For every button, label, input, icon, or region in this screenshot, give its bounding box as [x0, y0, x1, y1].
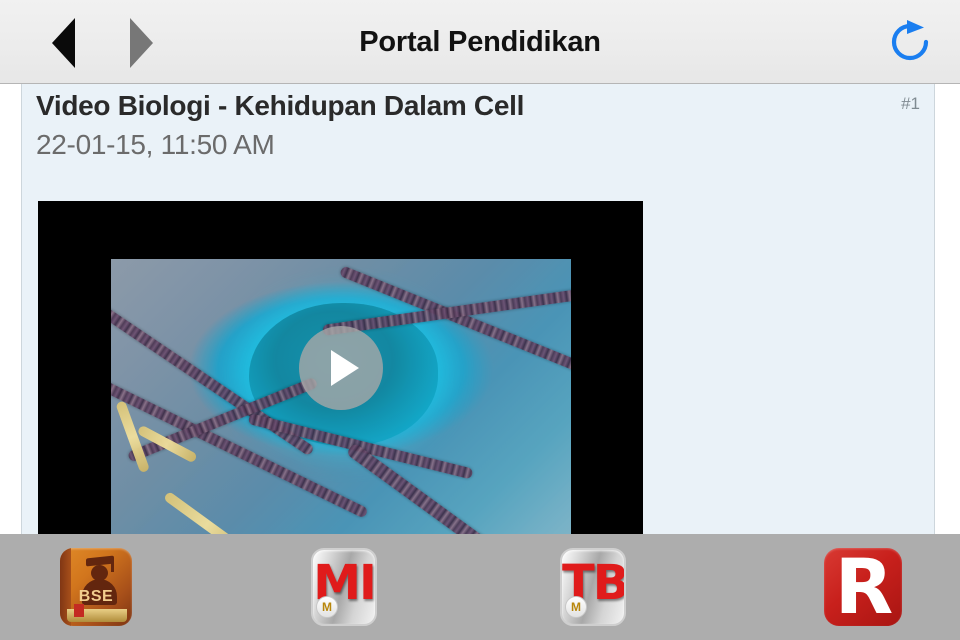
refresh-button[interactable] [886, 18, 934, 66]
navigation-bar: Portal Pendidikan [0, 0, 960, 84]
red-r-icon: R [824, 548, 902, 626]
cap-tassel-shape [111, 561, 114, 572]
post-card: Video Biologi - Kehidupan Dalam Cell #1 … [21, 84, 935, 534]
play-button[interactable] [299, 326, 383, 410]
page-content: Video Biologi - Kehidupan Dalam Cell #1 … [0, 84, 960, 534]
metal-letters-tb-icon: TB M [560, 548, 626, 626]
bookmark-shape [74, 604, 84, 617]
video-player[interactable] [38, 201, 643, 534]
app-root: Portal Pendidikan Video Biologi - Kehidu… [0, 0, 960, 640]
forward-button[interactable] [130, 18, 153, 68]
tb-badge: M [565, 596, 587, 618]
book-graduate-bse-icon: BSE [60, 548, 132, 626]
post-title: Video Biologi - Kehidupan Dalam Cell [36, 90, 524, 122]
post-timestamp: 22-01-15, 11:50 AM [36, 129, 274, 161]
mi-badge: M [316, 596, 338, 618]
metal-letters-mi-icon: MI M [311, 548, 377, 626]
back-button[interactable] [52, 18, 75, 68]
r-label: R [824, 548, 902, 626]
toolbar-item-r[interactable]: R [824, 548, 902, 626]
bse-label: BSE [60, 588, 132, 606]
play-triangle-icon [331, 350, 359, 386]
gold-filament-graphic [163, 491, 251, 534]
toolbar-item-mi[interactable]: MI M [305, 548, 383, 626]
toolbar-item-bse[interactable]: BSE [57, 548, 135, 626]
bottom-toolbar: BSE MI M TB M R [0, 534, 960, 640]
toolbar-item-tb[interactable]: TB M [554, 548, 632, 626]
post-index-badge: #1 [901, 94, 920, 114]
dna-strand-graphic [346, 442, 533, 534]
refresh-circular-arrow-icon [886, 18, 934, 66]
